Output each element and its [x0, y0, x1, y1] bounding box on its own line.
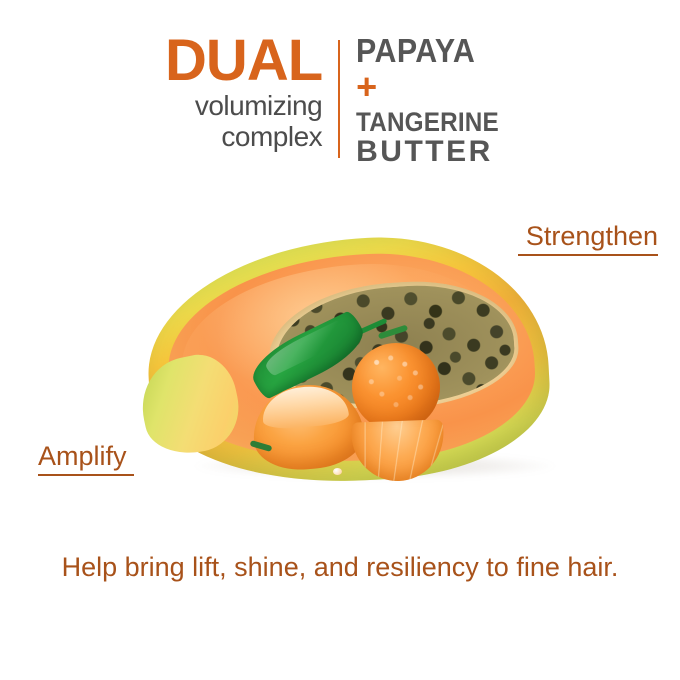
- callout-amplify: Amplify: [38, 442, 134, 476]
- dual-headline: DUAL: [165, 34, 322, 87]
- subtitle-line-2: complex: [165, 122, 322, 152]
- water-droplet-icon: [333, 468, 342, 475]
- lockup-left-column: DUAL volumizing complex: [165, 34, 338, 152]
- ingredient-tangerine-label: TANGERINE: [356, 108, 499, 136]
- lockup-right-column: PAPAYA + TANGERINE BUTTER: [340, 34, 515, 168]
- ingredient-papaya-label: PAPAYA: [356, 34, 502, 67]
- dual-complex-lockup: DUAL volumizing complex PAPAYA + TANGERI…: [0, 34, 680, 168]
- tagline: Help bring lift, shine, and resiliency t…: [60, 548, 620, 586]
- tangerine-peel-texture: [352, 343, 440, 431]
- plus-icon: +: [356, 69, 515, 105]
- ingredient-butter-label: BUTTER: [356, 136, 515, 168]
- product-benefit-graphic: DUAL volumizing complex PAPAYA + TANGERI…: [0, 0, 680, 680]
- subtitle-line-1: volumizing: [165, 91, 322, 121]
